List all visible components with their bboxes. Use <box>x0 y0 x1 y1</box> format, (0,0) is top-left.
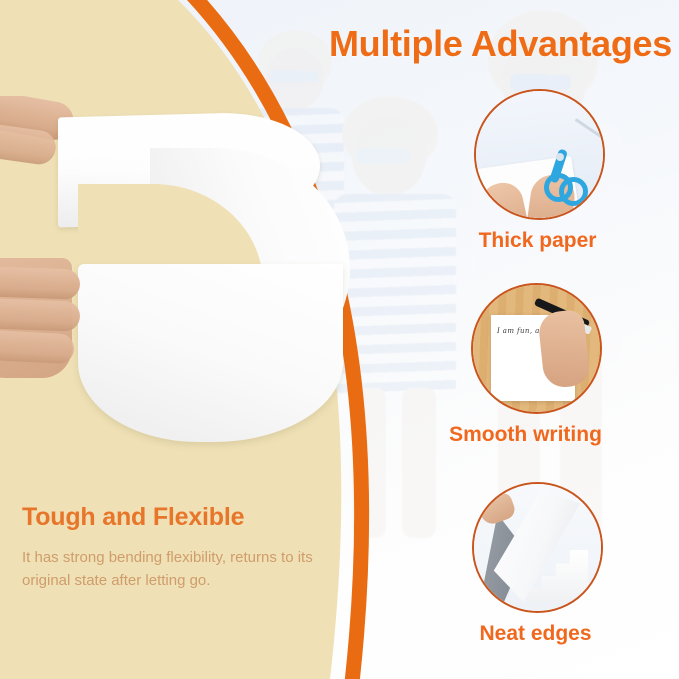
feature-image-circle <box>474 89 605 220</box>
finger <box>0 298 80 331</box>
scene-cutting-paper <box>476 91 603 218</box>
page-title: Multiple Advantages <box>280 24 672 64</box>
feature-label: Neat edges <box>468 622 603 646</box>
scissors-ring <box>559 177 588 206</box>
feature-neat-edges: Neat edges <box>472 482 603 646</box>
feature-image-circle <box>472 482 603 613</box>
product-feature-poster: Multiple Advantages Tough and Flexible I… <box>0 0 679 679</box>
feature-thick-paper: Thick paper <box>474 89 605 253</box>
hand-bottom <box>0 234 104 404</box>
scissors-pivot <box>556 153 564 161</box>
copy-body: It has strong bending flexibility, retur… <box>22 546 352 593</box>
copy-title: Tough and Flexible <box>22 503 352 532</box>
finger <box>0 266 80 299</box>
scene-writing: I am fun, and <box>473 285 600 412</box>
scissors-blade-icon <box>575 118 605 143</box>
finger <box>477 491 518 527</box>
feature-image-circle: I am fun, and <box>471 283 602 414</box>
scene-neat-edges <box>474 484 601 611</box>
feature-label: Thick paper <box>470 229 605 253</box>
feature-smooth-writing: I am fun, and Smooth writing <box>471 283 602 447</box>
left-copy-block: Tough and Flexible It has strong bending… <box>22 503 352 593</box>
feature-label: Smooth writing <box>449 423 602 447</box>
finger <box>0 330 75 365</box>
sheet-bottom-curve <box>78 264 343 442</box>
product-photo-bending-sheet <box>0 96 352 468</box>
